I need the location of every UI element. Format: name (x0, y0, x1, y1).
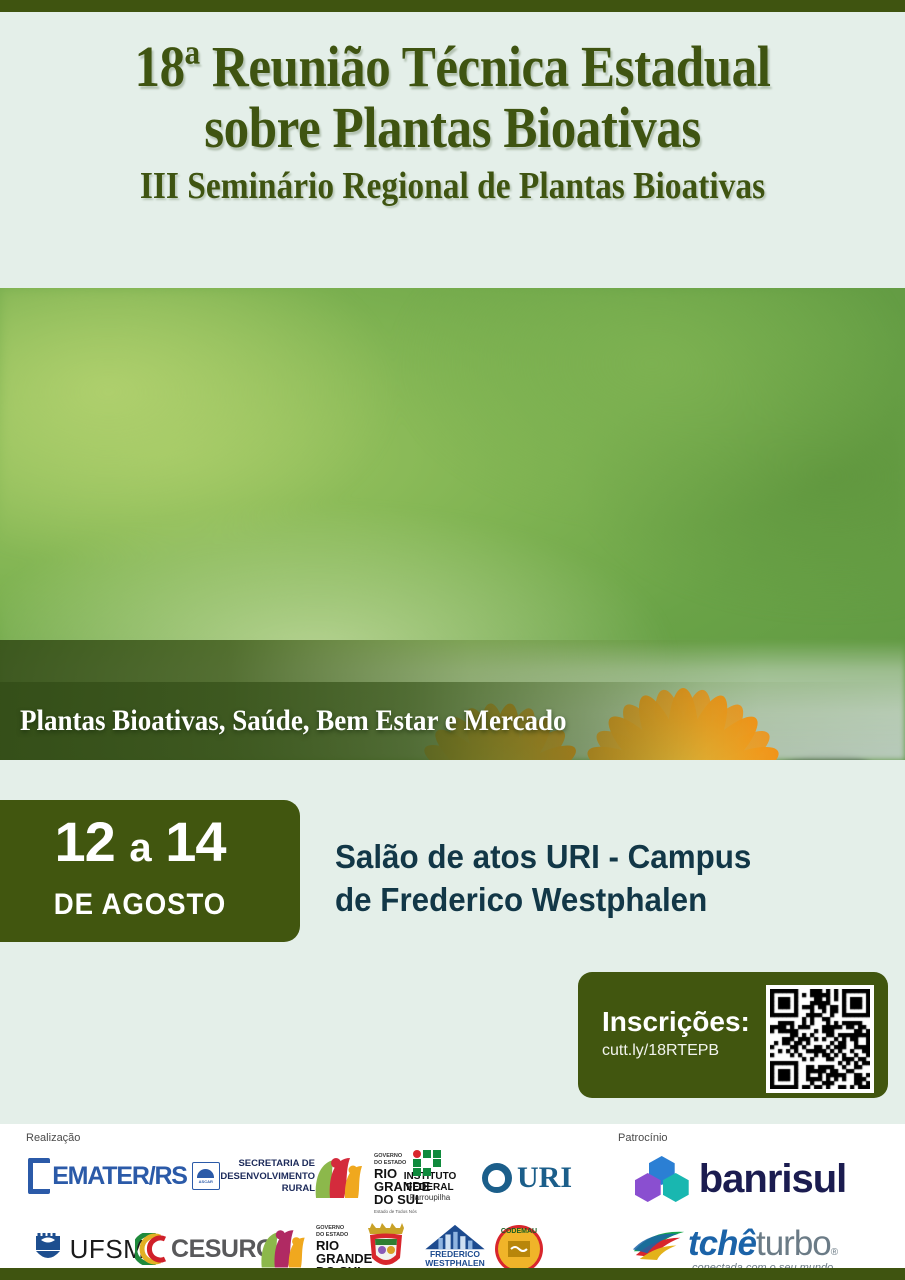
rs-faces-icon (312, 1154, 372, 1198)
date-connector: a (129, 826, 150, 870)
sdr-line3: RURAL (205, 1183, 315, 1196)
uri-wordmark: URI (517, 1161, 572, 1195)
tche-swoosh-icon (630, 1228, 688, 1261)
if-dot (423, 1150, 431, 1158)
if-title2: FEDERAL (406, 1183, 453, 1194)
fw-title2: WESTPHALEN (425, 1259, 485, 1268)
logo-tche-turbo: tchê turbo ® conectada com o seu mundo. (630, 1224, 860, 1274)
date-box: 12 a 14 DE AGOSTO (0, 800, 300, 942)
ufsm-wordmark: UFSM (70, 1234, 146, 1265)
date-day-start: 12 (55, 810, 115, 873)
logo-frederico-westphalen: FREDERICO WESTPHALEN ADMINISTRAÇÃO 2021-… (420, 1224, 490, 1272)
hero-photo: Plantas Bioativas, Saúde, Bem Estar e Me… (0, 288, 905, 760)
svg-text:CODEMAU: CODEMAU (501, 1228, 537, 1235)
if-campus: Farroupilha (410, 1193, 450, 1202)
emater-wordmark: EMATER/RS (52, 1162, 187, 1191)
logo-emater-rs: EMATER/RS ASCAR (24, 1156, 224, 1196)
poster-header: 18ª Reunião Técnica Estadual sobre Plant… (0, 12, 905, 288)
top-accent-bar (0, 0, 905, 12)
qr-code[interactable] (766, 985, 874, 1093)
bottom-accent-bar (0, 1268, 905, 1280)
poster-title-line2: sobre Plantas Bioativas (54, 99, 850, 156)
sdr-line2: DESENVOLVIMENTO (205, 1171, 315, 1184)
logo-cesurg: CESURG (140, 1228, 270, 1270)
emater-mark-icon (28, 1158, 50, 1194)
date-month: DE AGOSTO (11, 888, 269, 922)
logo-banrisul: banrisul (618, 1152, 863, 1206)
date-day-end: 14 (165, 810, 225, 873)
rs-sub: Estado de Todos Nós (374, 1209, 444, 1214)
if-dot (433, 1150, 441, 1158)
logo-codemau: CODEMAU (492, 1224, 546, 1274)
tche-wordmark-2: turbo (756, 1224, 831, 1264)
logo-secretaria-desenvolvimento-rural: SECRETARIA DE DESENVOLVIMENTO RURAL (205, 1156, 315, 1198)
event-poster: 18ª Reunião Técnica Estadual sobre Plant… (0, 0, 905, 1280)
logo-uri: URI (462, 1158, 592, 1198)
poster-caption: Plantas Bioativas, Saúde, Bem Estar e Me… (20, 704, 566, 738)
title-block: 18ª Reunião Técnica Estadual sobre Plant… (0, 38, 905, 205)
cesurg-swoosh-icon (135, 1233, 169, 1265)
banrisul-hex-icon (635, 1156, 689, 1202)
logo-brasao-frederico-westphalen (358, 1222, 414, 1274)
uri-seal-inner (488, 1170, 505, 1187)
registration-url[interactable]: cutt.ly/18RTEPB (602, 1042, 719, 1060)
banrisul-wordmark: banrisul (699, 1157, 847, 1202)
poster-subtitle: III Seminário Regional de Plantas Bioati… (54, 167, 850, 205)
if-dot (413, 1159, 421, 1167)
sponsor-label: Patrocínio (618, 1132, 668, 1144)
registered-mark-icon: ® (831, 1247, 838, 1258)
ufsm-crest-icon (33, 1233, 63, 1265)
poster-title-line1: 18ª Reunião Técnica Estadual (54, 38, 850, 95)
tche-wordmark-1: tchê (688, 1224, 756, 1264)
venue-line2: de Frederico Westphalen (335, 879, 839, 922)
sdr-line1: SECRETARIA DE (205, 1158, 315, 1171)
if-grid-icon (413, 1150, 447, 1170)
venue-line1: Salão de atos URI - Campus (335, 836, 839, 879)
if-dot (423, 1168, 431, 1176)
sponsors-footer: Realização Patrocínio EMATER/RS ASCAR SE… (0, 1124, 905, 1268)
if-dot (433, 1159, 441, 1167)
registration-label: Inscrições: (602, 1006, 750, 1038)
if-dot (413, 1168, 421, 1176)
realization-label: Realização (26, 1132, 80, 1144)
date-days: 12 a 14 (0, 814, 280, 870)
if-dot (413, 1150, 421, 1158)
rs-faces-icon (258, 1226, 318, 1270)
registration-box[interactable]: Inscrições: cutt.ly/18RTEPB (578, 972, 888, 1098)
uri-seal-icon (482, 1163, 512, 1193)
venue-address: Salão de atos URI - Campus de Frederico … (335, 836, 839, 922)
